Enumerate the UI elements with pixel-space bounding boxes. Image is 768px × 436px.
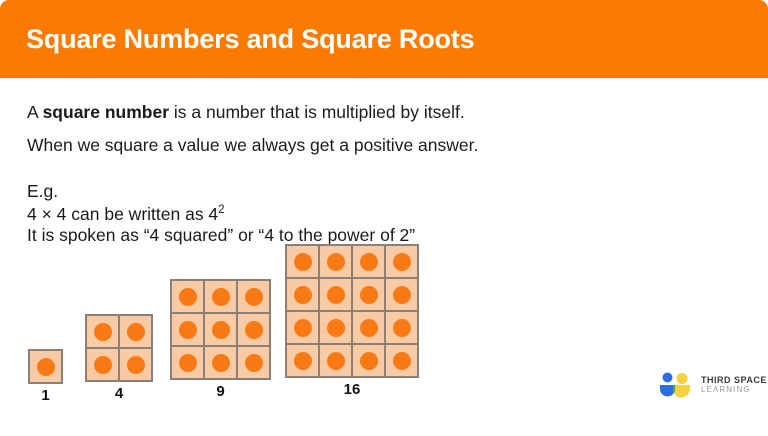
third-space-learning-logo: THIRD SPACE LEARNING [658, 372, 767, 398]
grid-cell [171, 346, 204, 379]
grid-cell [237, 280, 270, 313]
grid-cell [319, 278, 352, 311]
counter-dot-icon [94, 323, 112, 341]
counter-dot-icon [393, 286, 411, 304]
counter-dot-icon [294, 286, 312, 304]
grid-cell [286, 311, 319, 344]
counter-dot-icon [212, 288, 230, 306]
counter-dot-icon [212, 321, 230, 339]
grid-cell [352, 278, 385, 311]
grid-cell [385, 344, 418, 377]
counter-dot-icon [294, 253, 312, 271]
grid-cell [86, 348, 119, 381]
counter-dot-icon [179, 321, 197, 339]
counter-dot-icon [360, 319, 378, 337]
lesson-slide: Square Numbers and Square Roots A square… [0, 0, 768, 436]
dot-grid-1 [28, 349, 63, 384]
square-figure-4: 4 [85, 314, 153, 382]
grid-cell [237, 313, 270, 346]
dot-grid-9 [170, 279, 271, 380]
dot-grid-4 [85, 314, 153, 382]
counter-dot-icon [393, 352, 411, 370]
counter-dot-icon [127, 356, 145, 374]
dot-grid-16 [285, 244, 419, 378]
counter-dot-icon [294, 319, 312, 337]
grid-cell [286, 278, 319, 311]
counter-dot-icon [327, 253, 345, 271]
figure-label-1: 1 [28, 387, 63, 404]
counter-dot-icon [360, 253, 378, 271]
logo-line-2: LEARNING [701, 386, 767, 395]
grid-cell [204, 280, 237, 313]
counter-dot-icon [37, 358, 55, 376]
counter-dot-icon [245, 354, 263, 372]
counter-dot-icon [360, 286, 378, 304]
square-figure-1: 1 [28, 349, 63, 384]
counter-dot-icon [327, 319, 345, 337]
square-figure-9: 9 [170, 279, 271, 380]
figure-label-9: 9 [170, 383, 271, 400]
counter-dot-icon [327, 286, 345, 304]
counter-dot-icon [94, 356, 112, 374]
grid-cell [119, 348, 152, 381]
grid-cell [385, 245, 418, 278]
figure-label-4: 4 [85, 385, 153, 402]
counter-dot-icon [393, 253, 411, 271]
grid-cell [352, 344, 385, 377]
grid-cell [286, 344, 319, 377]
counter-dot-icon [327, 352, 345, 370]
logo-wordmark: THIRD SPACE LEARNING [701, 376, 767, 394]
grid-cell [319, 311, 352, 344]
grid-cell [119, 315, 152, 348]
square-figure-16: 16 [285, 244, 419, 378]
grid-cell [385, 278, 418, 311]
counter-dot-icon [212, 354, 230, 372]
grid-cell [352, 311, 385, 344]
grid-cell [319, 344, 352, 377]
counter-dot-icon [127, 323, 145, 341]
grid-cell [237, 346, 270, 379]
grid-cell [319, 245, 352, 278]
counter-dot-icon [179, 288, 197, 306]
grid-cell [171, 280, 204, 313]
counter-dot-icon [393, 319, 411, 337]
grid-cell [352, 245, 385, 278]
figure-label-16: 16 [285, 381, 419, 398]
grid-cell [204, 346, 237, 379]
grid-cell [204, 313, 237, 346]
counter-dot-icon [245, 288, 263, 306]
grid-cell [286, 245, 319, 278]
grid-cell [86, 315, 119, 348]
logo-mark-icon [658, 372, 694, 398]
counter-dot-icon [360, 352, 378, 370]
counter-dot-icon [245, 321, 263, 339]
grid-cell [385, 311, 418, 344]
grid-cell [29, 350, 62, 383]
counter-dot-icon [294, 352, 312, 370]
square-number-diagrams: 1 4 9 16 [0, 0, 768, 436]
counter-dot-icon [179, 354, 197, 372]
grid-cell [171, 313, 204, 346]
